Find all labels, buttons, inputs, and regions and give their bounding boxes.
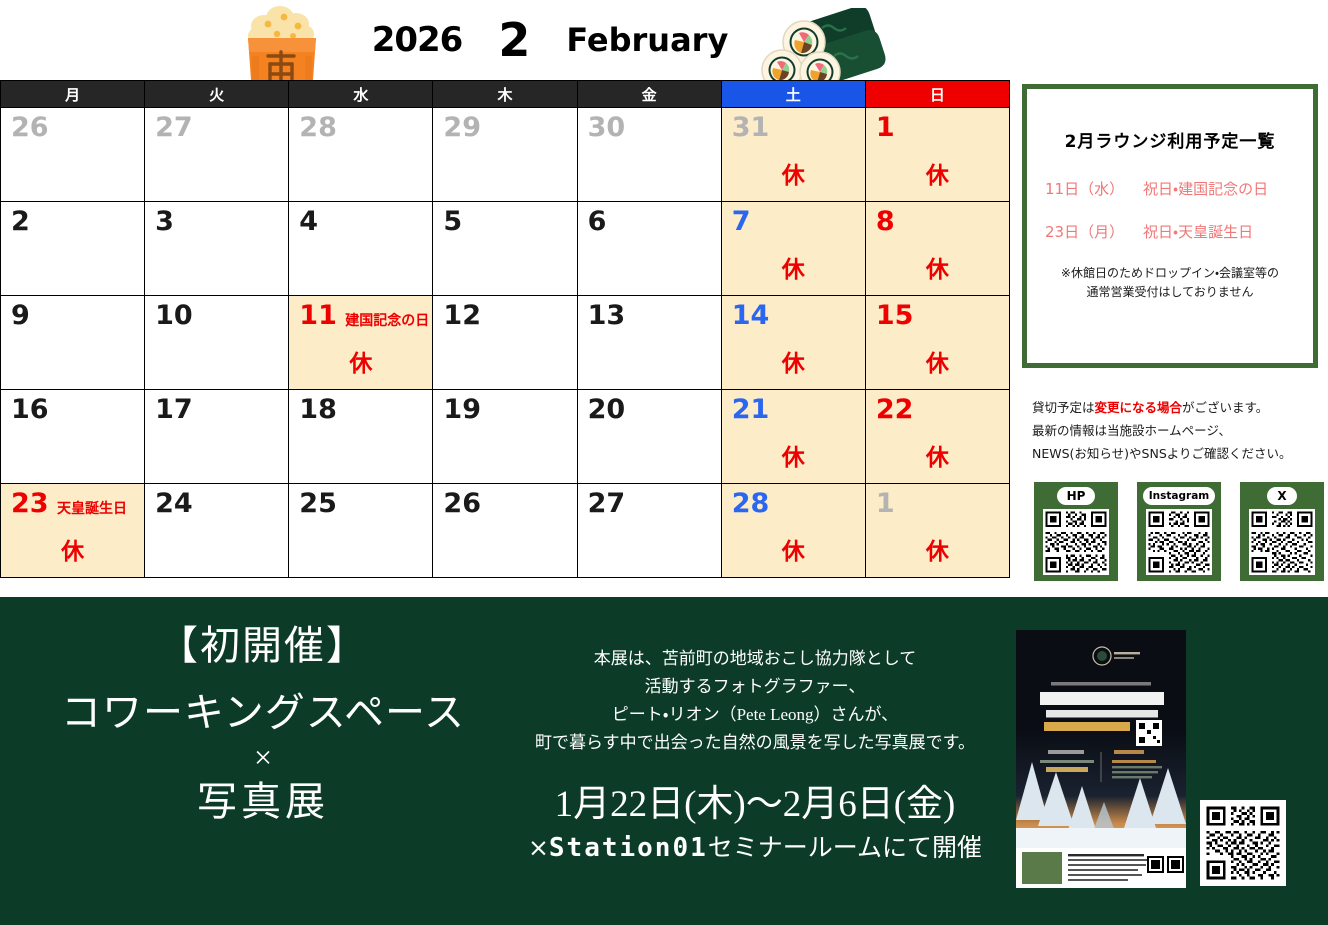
qr-card-x[interactable]: X — [1240, 482, 1324, 581]
calendar-day-number: 21 — [732, 396, 770, 423]
calendar-closed-mark: 休 — [722, 438, 865, 472]
calendar-closed-mark: 休 — [866, 156, 1009, 190]
notice-text-post: がございます。 — [1182, 400, 1268, 415]
calendar-day-cell[interactable]: 28休 — [721, 484, 865, 578]
calendar-day-cell[interactable]: 3 — [145, 202, 289, 296]
calendar-day-cell[interactable]: 10 — [145, 296, 289, 390]
lounge-entry-date: 23日（月） — [1045, 221, 1143, 242]
lounge-entry-name: 祝日・建国記念の日 — [1143, 178, 1295, 199]
calendar-day-number: 27 — [588, 490, 626, 517]
calendar-day-cell[interactable]: 21休 — [721, 390, 865, 484]
lounge-entry-name: 祝日・天皇誕生日 — [1143, 221, 1295, 242]
calendar-week-row: 262728293031休1休 — [1, 108, 1010, 202]
calendar-day-cell[interactable]: 17 — [145, 390, 289, 484]
calendar-day-cell[interactable]: 1休 — [865, 108, 1009, 202]
calendar-day-cell[interactable]: 5 — [433, 202, 577, 296]
banner-title-line1: コワーキングスペース — [28, 687, 498, 739]
qr-code-icon — [1249, 509, 1315, 575]
qr-code-icon — [1204, 804, 1282, 882]
sidebar: 2月ラウンジ利用予定一覧 11日（水） 祝日・建国記念の日 23日（月） 祝日・… — [1010, 0, 1328, 595]
calendar-day-number: 24 — [155, 490, 193, 517]
calendar-day-cell[interactable]: 18 — [289, 390, 433, 484]
calendar-closed-mark: 休 — [1, 532, 144, 566]
calendar-day-number: 17 — [155, 396, 193, 423]
notice-text-pre: 貸切予定は — [1032, 400, 1095, 415]
calendar-day-number: 10 — [155, 302, 193, 329]
exhibition-poster-thumbnail[interactable] — [1016, 630, 1186, 888]
calendar-day-number: 15 — [876, 302, 914, 329]
calendar-day-number: 26 — [11, 114, 49, 141]
reservation-notice-line3: NEWS(お知らせ)やSNSよりご確認ください。 — [1032, 442, 1322, 465]
calendar-day-cell[interactable]: 24 — [145, 484, 289, 578]
banner-qr-code[interactable] — [1200, 800, 1286, 886]
calendar-day-number: 31 — [732, 114, 770, 141]
reservation-notice-line1: 貸切予定は変更になる場合がございます。 — [1032, 396, 1322, 419]
calendar-day-number: 18 — [299, 396, 337, 423]
calendar-day-cell[interactable]: 4 — [289, 202, 433, 296]
calendar-holiday-label: 天皇誕生日 — [57, 498, 127, 518]
calendar-closed-mark: 休 — [289, 344, 432, 378]
reservation-notice-line2: 最新の情報は当施設ホームページ、 — [1032, 419, 1322, 442]
banner-description-line2: 活動するフォトグラファー、 — [490, 673, 1020, 701]
calendar-day-number: 7 — [732, 208, 751, 235]
social-qr-row: HP — [1034, 482, 1324, 581]
banner-title-block: 【初開催】 コワーキングスペース × 写真展 — [28, 619, 498, 828]
weekday-header-wed: 水 — [289, 81, 433, 108]
calendar-day-number: 27 — [155, 114, 193, 141]
list-item: 11日（水） 祝日・建国記念の日 — [1045, 178, 1295, 199]
weekday-header-fri: 金 — [577, 81, 721, 108]
calendar-day-number: 13 — [588, 302, 626, 329]
calendar-title: 2026 2 February — [340, 0, 760, 80]
banner-venue: ×Station01セミナールームにて開催 — [490, 832, 1020, 865]
calendar-day-number: 8 — [876, 208, 895, 235]
calendar-day-number: 14 — [732, 302, 770, 329]
lounge-closure-note-line1: ※休館日のためドロップイン・会議室等の — [1027, 264, 1313, 283]
calendar-day-cell[interactable]: 14休 — [721, 296, 865, 390]
calendar-closed-mark: 休 — [866, 532, 1009, 566]
weekday-header-tue: 火 — [145, 81, 289, 108]
calendar-day-number: 20 — [588, 396, 626, 423]
calendar-day-cell[interactable]: 26 — [1, 108, 145, 202]
banner-title-line2: 写真展 — [28, 776, 498, 828]
calendar-day-number: 29 — [443, 114, 481, 141]
calendar-day-number: 25 — [299, 490, 337, 517]
qr-label-instagram: Instagram — [1143, 487, 1215, 505]
calendar-day-cell[interactable]: 15休 — [865, 296, 1009, 390]
banner-info-block: 本展は、苫前町の地域おこし協力隊として 活動するフォトグラファー、 ピート・リオ… — [490, 645, 1020, 864]
calendar-week-row: 23天皇誕生日休2425262728休1休 — [1, 484, 1010, 578]
calendar-day-number: 23 — [11, 490, 49, 517]
calendar-day-cell[interactable]: 27 — [145, 108, 289, 202]
calendar-day-number: 4 — [299, 208, 318, 235]
calendar-day-number: 30 — [588, 114, 626, 141]
calendar-day-cell[interactable]: 2 — [1, 202, 145, 296]
banner-description: 本展は、苫前町の地域おこし協力隊として 活動するフォトグラファー、 ピート・リオ… — [490, 645, 1020, 757]
list-item: 23日（月） 祝日・天皇誕生日 — [1045, 221, 1295, 242]
calendar-week-row: 234567休8休 — [1, 202, 1010, 296]
venue-brand: Station01 — [549, 833, 708, 863]
calendar-day-number: 2 — [11, 208, 30, 235]
calendar-day-cell[interactable]: 11建国記念の日休 — [289, 296, 433, 390]
calendar-day-cell[interactable]: 19 — [433, 390, 577, 484]
banner-badge: 【初開催】 — [28, 619, 498, 673]
calendar-week-row: 91011建国記念の日休121314休15休 — [1, 296, 1010, 390]
banner-date-range: 1月22日(木)〜2月6日(金) — [490, 783, 1020, 827]
calendar-day-cell[interactable]: 26 — [433, 484, 577, 578]
calendar-day-cell[interactable]: 16 — [1, 390, 145, 484]
calendar-day-number: 28 — [732, 490, 770, 517]
calendar-day-number: 6 — [588, 208, 607, 235]
lounge-schedule-panel: 2月ラウンジ利用予定一覧 11日（水） 祝日・建国記念の日 23日（月） 祝日・… — [1022, 84, 1318, 368]
weekday-header-thu: 木 — [433, 81, 577, 108]
calendar-title-row: 2026 2 February — [0, 0, 1010, 80]
calendar-day-cell[interactable]: 30 — [577, 108, 721, 202]
lounge-schedule-title: 2月ラウンジ利用予定一覧 — [1027, 127, 1313, 152]
calendar-day-cell[interactable]: 12 — [433, 296, 577, 390]
banner-description-line3: ピート・リオン（Pete Leong）さんが、 — [490, 701, 1020, 729]
calendar-day-cell[interactable]: 31休 — [721, 108, 865, 202]
calendar-closed-mark: 休 — [866, 344, 1009, 378]
banner-title-cross: × — [28, 739, 498, 776]
calendar-day-number: 19 — [443, 396, 481, 423]
calendar-day-number: 12 — [443, 302, 481, 329]
lounge-schedule-list: 11日（水） 祝日・建国記念の日 23日（月） 祝日・天皇誕生日 — [1027, 178, 1313, 242]
calendar-day-number: 3 — [155, 208, 174, 235]
calendar-year: 2026 — [372, 20, 463, 60]
calendar-day-cell[interactable]: 23天皇誕生日休 — [1, 484, 145, 578]
calendar-day-cell[interactable]: 1休 — [865, 484, 1009, 578]
venue-prefix: × — [528, 833, 549, 862]
weekday-header-sun: 日 — [865, 81, 1009, 108]
calendar-day-cell[interactable]: 22休 — [865, 390, 1009, 484]
calendar-day-cell[interactable]: 9 — [1, 296, 145, 390]
calendar-day-cell[interactable]: 7休 — [721, 202, 865, 296]
weekday-header-mon: 月 — [1, 81, 145, 108]
calendar-closed-mark: 休 — [722, 344, 865, 378]
calendar-day-number: 16 — [11, 396, 49, 423]
calendar-closed-mark: 休 — [722, 156, 865, 190]
qr-card-instagram[interactable]: Instagram — [1137, 482, 1221, 581]
calendar-day-cell[interactable]: 6 — [577, 202, 721, 296]
reservation-notice: 貸切予定は変更になる場合がございます。 最新の情報は当施設ホームページ、 NEW… — [1032, 396, 1322, 465]
calendar-grid: 月 火 水 木 金 土 日 262728293031休1休234567休8休91… — [0, 80, 1010, 578]
banner-description-line4: 町で暮らす中で出会った自然の風景を写した写真展です。 — [490, 729, 1020, 757]
calendar-day-cell[interactable]: 8休 — [865, 202, 1009, 296]
calendar-weekday-header-row: 月 火 水 木 金 土 日 — [1, 81, 1010, 108]
calendar-day-cell[interactable]: 25 — [289, 484, 433, 578]
calendar-closed-mark: 休 — [866, 250, 1009, 284]
calendar-week-row: 161718192021休22休 — [1, 390, 1010, 484]
qr-code-icon — [1146, 509, 1212, 575]
calendar-day-cell[interactable]: 28 — [289, 108, 433, 202]
calendar-day-cell[interactable]: 29 — [433, 108, 577, 202]
calendar-day-number: 11 — [299, 302, 337, 329]
calendar-day-number: 22 — [876, 396, 914, 423]
calendar-day-number: 28 — [299, 114, 337, 141]
calendar-day-cell[interactable]: 27 — [577, 484, 721, 578]
calendar-day-number: 9 — [11, 302, 30, 329]
calendar-closed-mark: 休 — [722, 532, 865, 566]
qr-card-hp[interactable]: HP — [1034, 482, 1118, 581]
qr-label-hp: HP — [1057, 487, 1096, 505]
calendar-holiday-label: 建国記念の日 — [345, 310, 429, 330]
calendar-closed-mark: 休 — [722, 250, 865, 284]
calendar-month-english: February — [566, 21, 728, 59]
calendar-day-number: 1 — [876, 490, 895, 517]
banner-description-line1: 本展は、苫前町の地域おこし協力隊として — [490, 645, 1020, 673]
calendar-day-number: 26 — [443, 490, 481, 517]
venue-suffix: セミナールームにて開催 — [708, 835, 982, 862]
qr-code-icon — [1043, 509, 1109, 575]
calendar-closed-mark: 休 — [866, 438, 1009, 472]
lounge-closure-note-line2: 通常営業受付はしておりません — [1027, 283, 1313, 302]
calendar-day-cell[interactable]: 13 — [577, 296, 721, 390]
lounge-closure-note: ※休館日のためドロップイン・会議室等の 通常営業受付はしておりません — [1027, 264, 1313, 301]
calendar-body: 262728293031休1休234567休8休91011建国記念の日休1213… — [1, 108, 1010, 578]
notice-highlight: 変更になる場合 — [1095, 400, 1183, 415]
calendar-day-cell[interactable]: 20 — [577, 390, 721, 484]
qr-label-x: X — [1267, 487, 1296, 505]
lounge-entry-date: 11日（水） — [1045, 178, 1143, 199]
calendar-month-number: 2 — [498, 17, 530, 63]
calendar-day-number: 5 — [443, 208, 462, 235]
weekday-header-sat: 土 — [721, 81, 865, 108]
calendar-day-number: 1 — [876, 114, 895, 141]
